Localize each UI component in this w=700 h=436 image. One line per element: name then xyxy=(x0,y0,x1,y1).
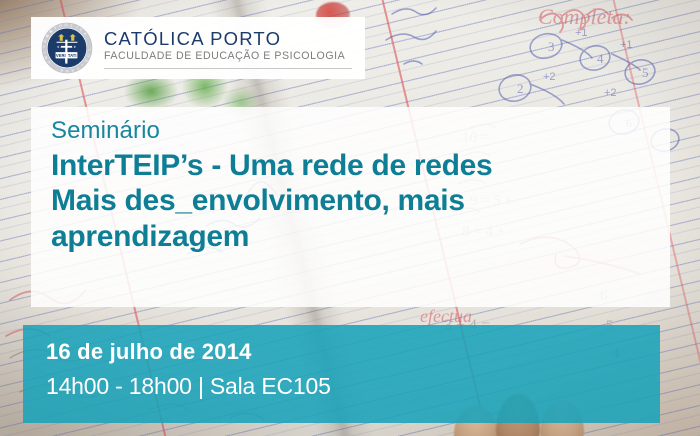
svg-text:TATI: TATI xyxy=(68,53,77,58)
headline-line-1: InterTEIP’s - Uma rede de redes xyxy=(51,148,670,183)
title-panel: Seminário InterTEIP’s - Uma rede de rede… xyxy=(31,107,670,307)
svg-text:O: O xyxy=(65,23,68,27)
event-info-bar: 16 de julho de 2014 14h00 - 18h00 | Sala… xyxy=(23,325,660,423)
svg-text:VERI: VERI xyxy=(56,53,66,58)
institution-logo-block: C A T H O L I C A L U S I T A N A U N I xyxy=(31,17,365,79)
svg-text:N: N xyxy=(65,69,68,73)
university-seal-icon: C A T H O L I C A L U S I T A N A U N I xyxy=(41,22,93,74)
event-kicker: Seminário xyxy=(51,116,670,146)
event-poster: 3 4 5 2 6 +1 +1 +2 +2 10 = 10 = 9 = 5 + … xyxy=(0,0,700,436)
svg-text:L: L xyxy=(88,49,92,52)
logo-subtitle: FACULDADE DE EDUCAÇÃO E PSICOLOGIA xyxy=(104,51,352,63)
headline-line-2: Mais des_envolvimento, mais xyxy=(51,183,670,218)
headline-line-3: aprendizagem xyxy=(51,219,670,254)
logo-divider xyxy=(104,68,352,69)
logo-title: CATÓLICA PORTO xyxy=(104,29,352,48)
event-headline: InterTEIP’s - Uma rede de redes Mais des… xyxy=(51,148,670,254)
event-date: 16 de julho de 2014 xyxy=(46,338,660,366)
logo-wordmark: CATÓLICA PORTO FACULDADE DE EDUCAÇÃO E P… xyxy=(104,27,352,69)
svg-text:V: V xyxy=(42,45,46,48)
event-time-room: 14h00 - 18h00 | Sala EC105 xyxy=(46,372,660,402)
